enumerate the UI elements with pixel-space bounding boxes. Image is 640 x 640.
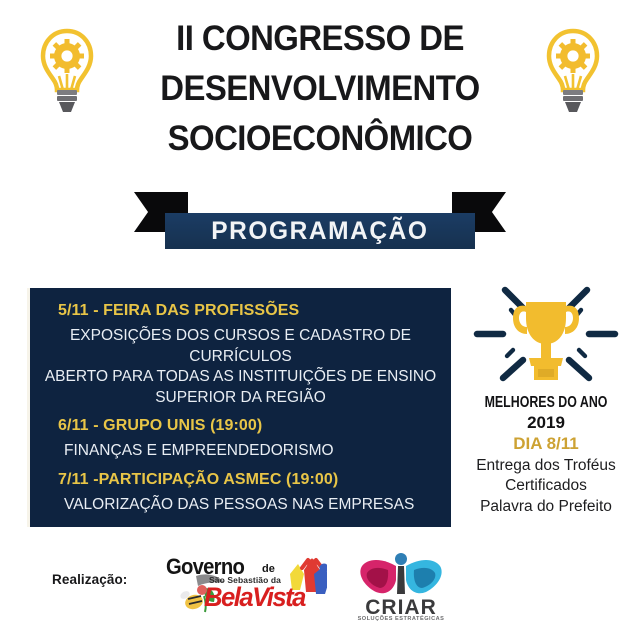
schedule-entry: 5/11 - FEIRA DAS PROFISSÕES EXPOSIÇÕES D… — [42, 302, 439, 408]
awards-year: 2019 — [455, 413, 637, 433]
title-line-2: DESENVOLVIMENTO — [117, 64, 523, 114]
awards-item: Certificados — [455, 476, 637, 496]
awards-item: Palavra do Prefeito — [455, 497, 637, 517]
event-poster: II CONGRESSO DE DESENVOLVIMENTO SOCIOECO… — [0, 0, 640, 640]
criar-figure-icon — [352, 552, 450, 600]
schedule-entry-line: ABERTO PARA TODAS AS INSTITUIÇÕES DE ENS… — [42, 367, 439, 388]
schedule-entry-date: 6/11 - GRUPO UNIS (19:00) — [58, 417, 439, 435]
lightbulb-gear-icon — [36, 26, 98, 114]
title-line-1: II CONGRESSO DE — [117, 14, 523, 64]
realizacao-label: Realização: — [52, 572, 127, 587]
poster-header: II CONGRESSO DE DESENVOLVIMENTO SOCIOECO… — [0, 0, 640, 186]
schedule-entry-line: SUPERIOR DA REGIÃO — [42, 388, 439, 409]
schedule-entry-line: FINANÇAS E EMPREENDEDORISMO — [64, 441, 439, 462]
schedule-entry-line: EXPOSIÇÕES DOS CURSOS E CADASTRO DE CURR… — [42, 326, 439, 367]
awards-title: MELHORES DO ANO — [473, 394, 619, 412]
schedule-entry: 7/11 -PARTICIPAÇÃO ASMEC (19:00) VALORIZ… — [42, 471, 439, 516]
awards-item: Entrega dos Troféus — [455, 456, 637, 476]
municipality-name: BelaVista — [204, 582, 305, 613]
schedule-entry: 6/11 - GRUPO UNIS (19:00) FINANÇAS E EMP… — [42, 417, 439, 462]
awards-date: DIA 8/11 — [455, 434, 637, 454]
awards-section: MELHORES DO ANO 2019 DIA 8/11 Entrega do… — [455, 282, 637, 517]
governo-de-word: de — [262, 563, 275, 575]
criar-logo: CRIAR SOLUÇÕES ESTRATÉGICAS — [352, 552, 450, 630]
schedule-entry-date: 5/11 - FEIRA DAS PROFISSÕES — [58, 302, 439, 320]
schedule-entry-line: VALORIZAÇÃO DAS PESSOAS NAS EMPRESAS — [64, 495, 439, 516]
governo-bela-vista-logo: Governo de São Sebastião da BelaVista — [152, 552, 327, 618]
trophy-icon — [471, 282, 621, 390]
programacao-ribbon: PROGRAMAÇÃO — [0, 192, 640, 248]
criar-tagline: SOLUÇÕES ESTRATÉGICAS — [352, 616, 450, 622]
ribbon-label: PROGRAMAÇÃO — [211, 217, 428, 246]
title-line-3: SOCIOECONÔMICO — [117, 114, 523, 164]
schedule-entry-date: 7/11 -PARTICIPAÇÃO ASMEC (19:00) — [58, 471, 439, 489]
schedule-panel: 5/11 - FEIRA DAS PROFISSÕES EXPOSIÇÕES D… — [30, 288, 451, 527]
poster-title: II CONGRESSO DE DESENVOLVIMENTO SOCIOECO… — [104, 14, 536, 164]
lightbulb-gear-icon — [542, 26, 604, 114]
poster-footer: Realização: — [0, 548, 640, 640]
ribbon-band: PROGRAMAÇÃO — [165, 213, 475, 249]
